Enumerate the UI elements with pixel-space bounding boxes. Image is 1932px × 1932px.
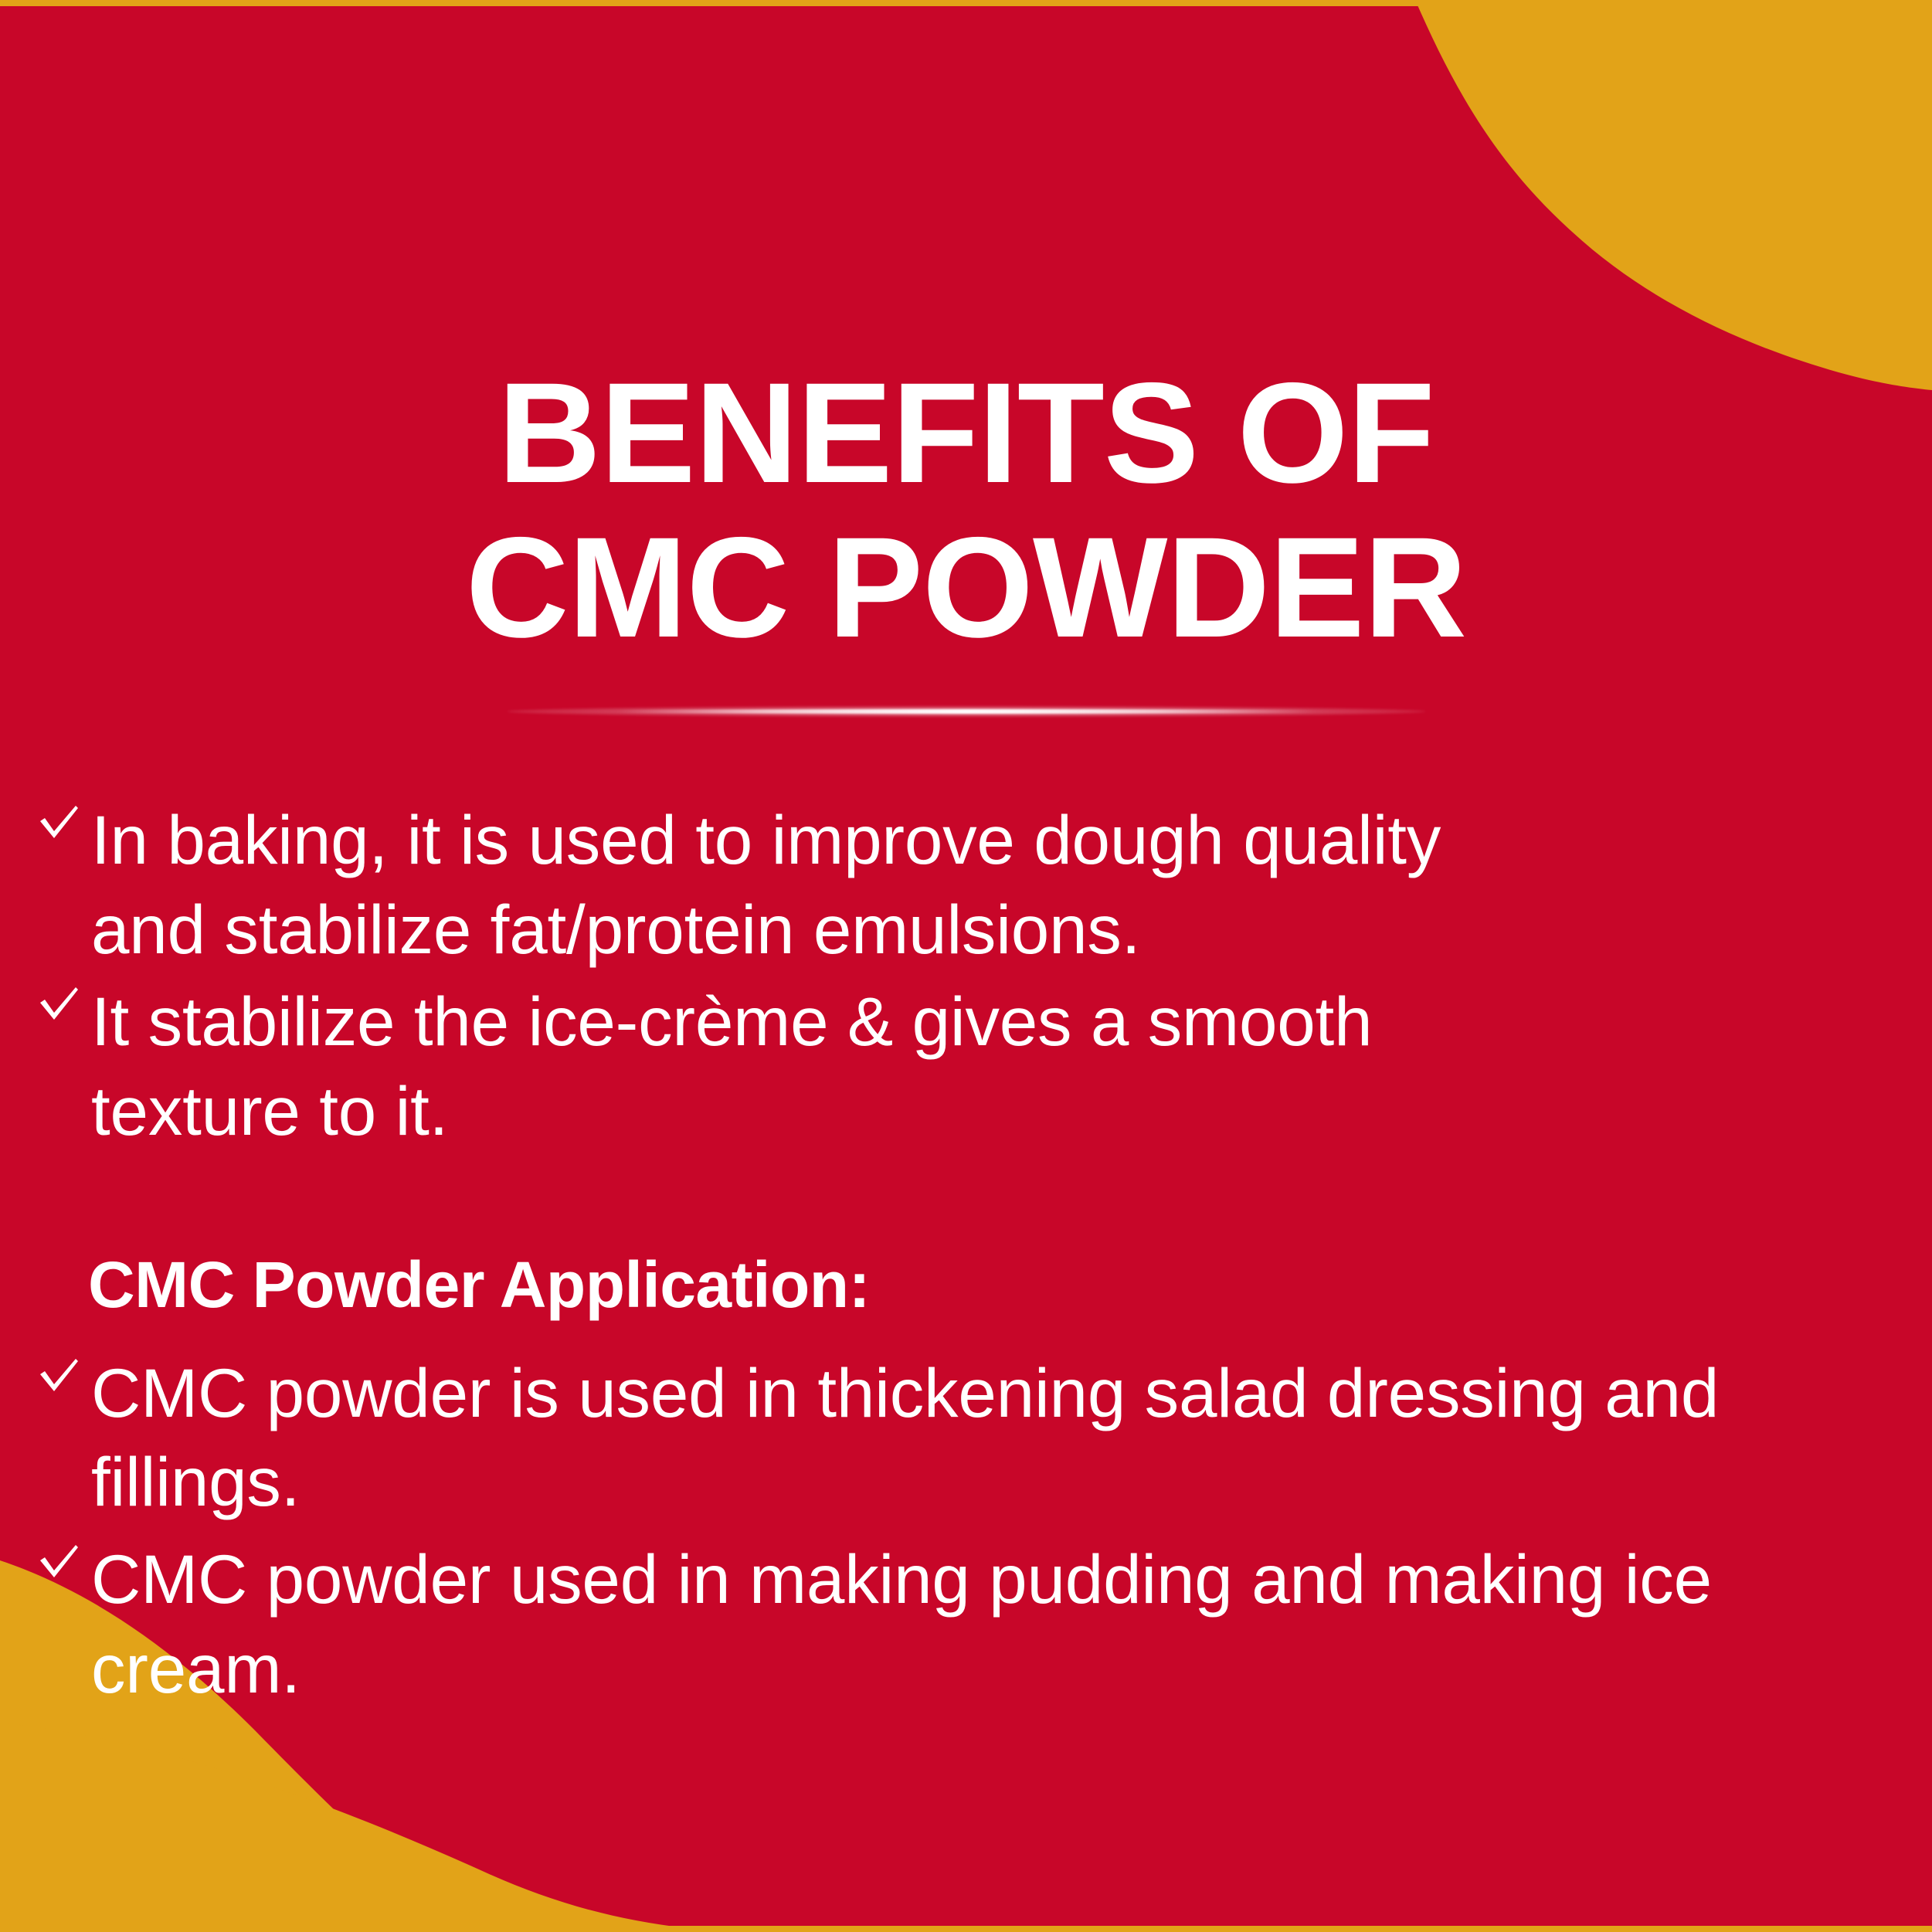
check-icon bbox=[37, 800, 87, 844]
poster-canvas: BENEFITS OF CMC POWDER In baking, it is … bbox=[0, 0, 1932, 1932]
applications-heading: CMC Powder Application: bbox=[37, 1248, 1907, 1323]
title-line-1: BENEFITS OF bbox=[0, 357, 1932, 511]
list-item-label: CMC powder is used in thickening salad d… bbox=[91, 1349, 1907, 1527]
divider-core bbox=[616, 710, 1315, 714]
list-item: CMC powder used in making pudding and ma… bbox=[37, 1535, 1907, 1713]
list-item-label: CMC powder used in making pudding and ma… bbox=[91, 1535, 1907, 1713]
list-item: It stabilize the ice-crème & gives a smo… bbox=[37, 977, 1907, 1156]
title-line-2: CMC POWDER bbox=[0, 511, 1932, 666]
body-area: In baking, it is used to improve dough q… bbox=[37, 796, 1907, 1722]
list-item-label: In baking, it is used to improve dough q… bbox=[91, 796, 1559, 974]
glow-divider bbox=[507, 695, 1426, 728]
poster-content: BENEFITS OF CMC POWDER In baking, it is … bbox=[0, 0, 1932, 1932]
applications-list: CMC powder is used in thickening salad d… bbox=[37, 1349, 1907, 1714]
check-icon bbox=[37, 982, 87, 1025]
list-item: In baking, it is used to improve dough q… bbox=[37, 796, 1907, 974]
divider-glow bbox=[507, 706, 1426, 717]
page-title: BENEFITS OF CMC POWDER bbox=[0, 357, 1932, 666]
list-item: CMC powder is used in thickening salad d… bbox=[37, 1349, 1907, 1527]
list-item-label: It stabilize the ice-crème & gives a smo… bbox=[91, 977, 1559, 1156]
check-icon bbox=[37, 1353, 87, 1397]
check-icon bbox=[37, 1540, 87, 1583]
benefits-list: In baking, it is used to improve dough q… bbox=[37, 796, 1907, 1156]
